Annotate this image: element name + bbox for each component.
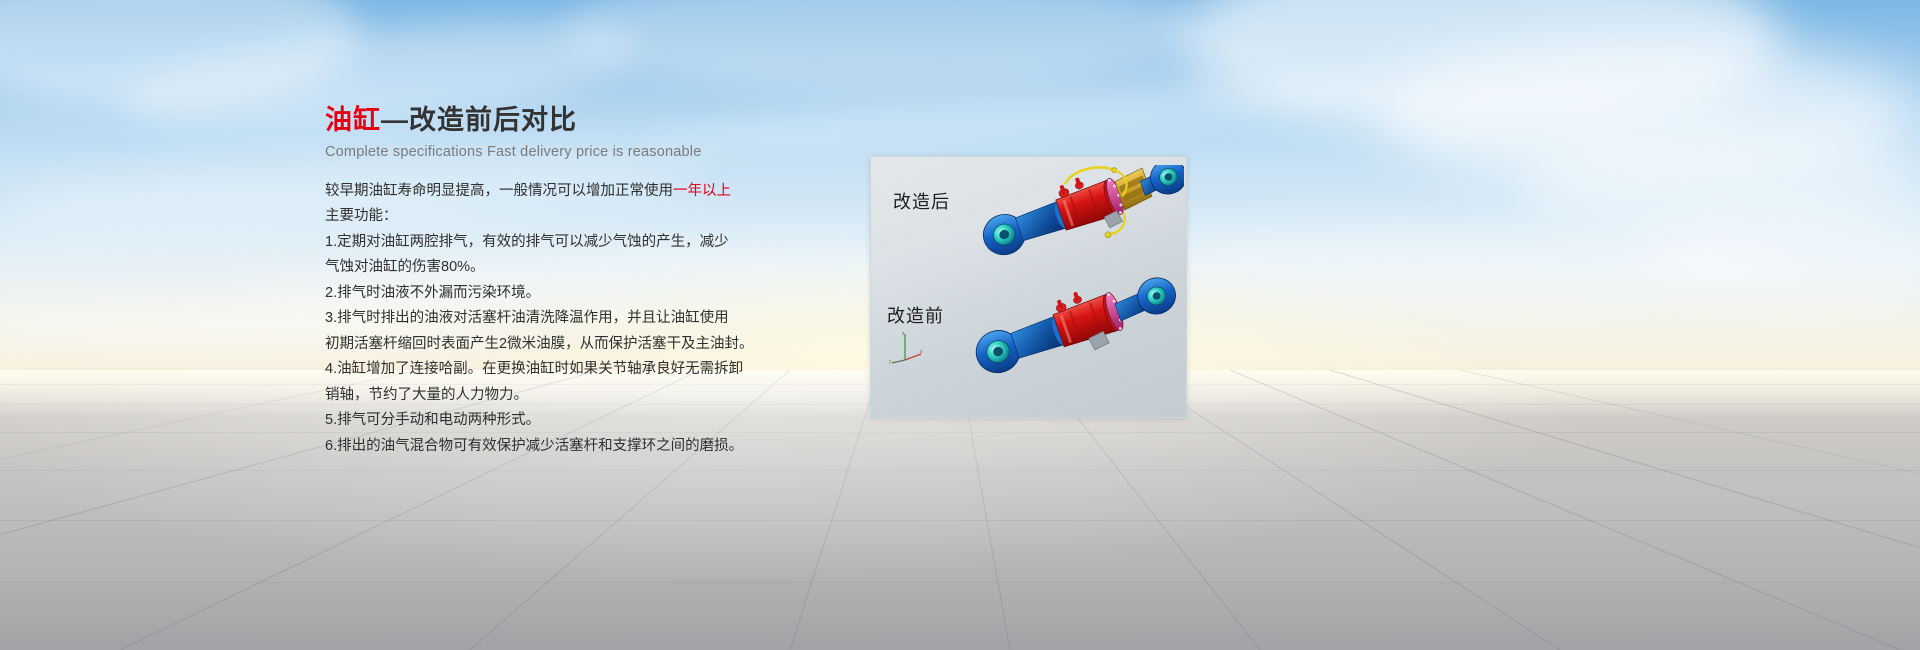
page-title-rest: —改造前后对比 xyxy=(381,105,577,135)
label-before-modification: 改造前 xyxy=(887,302,944,328)
axis-label-x: x xyxy=(920,349,923,355)
body-line: 6.排出的油气混合物可有效保护减少活塞杆和支撑环之间的磨损。 xyxy=(325,434,755,460)
body-line: 4.油缸增加了连接哈副。在更换油缸时如果关节轴承良好无需拆卸 xyxy=(325,357,755,383)
body-line-text: 较早期油缸寿命明显提高，一般情况可以增加正常使用 xyxy=(325,183,673,199)
axis-label-y: y xyxy=(889,359,892,364)
page-title: 油缸—改造前后对比 xyxy=(325,104,755,138)
body-line: 2.排气时油液不外漏而污染环境。 xyxy=(325,281,755,307)
product-image-panel: 改造后 改造前 xyxy=(870,156,1187,418)
page-title-accent: 油缸 xyxy=(325,105,381,135)
body-line: 3.排气时排出的油液对活塞杆油清洗降温作用，并且让油缸使用 xyxy=(325,306,755,332)
body-line: 初期活塞杆缩回时表面产生2微米油膜，从而保护活塞干及主油封。 xyxy=(325,332,755,358)
body-line: 5.排气可分手动和电动两种形式。 xyxy=(325,408,755,434)
banner-body-text: 较早期油缸寿命明显提高，一般情况可以增加正常使用一年以上 主要功能： 1.定期对… xyxy=(325,179,755,460)
page-subtitle: Complete specifications Fast delivery pr… xyxy=(325,144,755,160)
body-line: 较早期油缸寿命明显提高，一般情况可以增加正常使用一年以上 xyxy=(325,179,755,205)
body-line-accent: 一年以上 xyxy=(673,183,731,199)
body-line: 销轴，节约了大量的人力物力。 xyxy=(325,383,755,409)
hero-banner: 油缸—改造前后对比 Complete specifications Fast d… xyxy=(0,0,1920,650)
coordinate-axis-icon: z x y xyxy=(889,330,925,364)
body-line: 气蚀对油缸的伤害80%。 xyxy=(325,255,755,281)
body-line: 主要功能： xyxy=(325,204,755,230)
cloud-decoration xyxy=(560,0,1200,90)
hydraulic-cylinder-after-image xyxy=(979,165,1184,283)
banner-copy: 油缸—改造前后对比 Complete specifications Fast d… xyxy=(325,104,755,459)
body-line: 1.定期对油缸两腔排气，有效的排气可以减少气蚀的产生，减少 xyxy=(325,230,755,256)
hydraulic-cylinder-before-image xyxy=(971,277,1186,405)
label-after-modification: 改造后 xyxy=(893,188,950,214)
